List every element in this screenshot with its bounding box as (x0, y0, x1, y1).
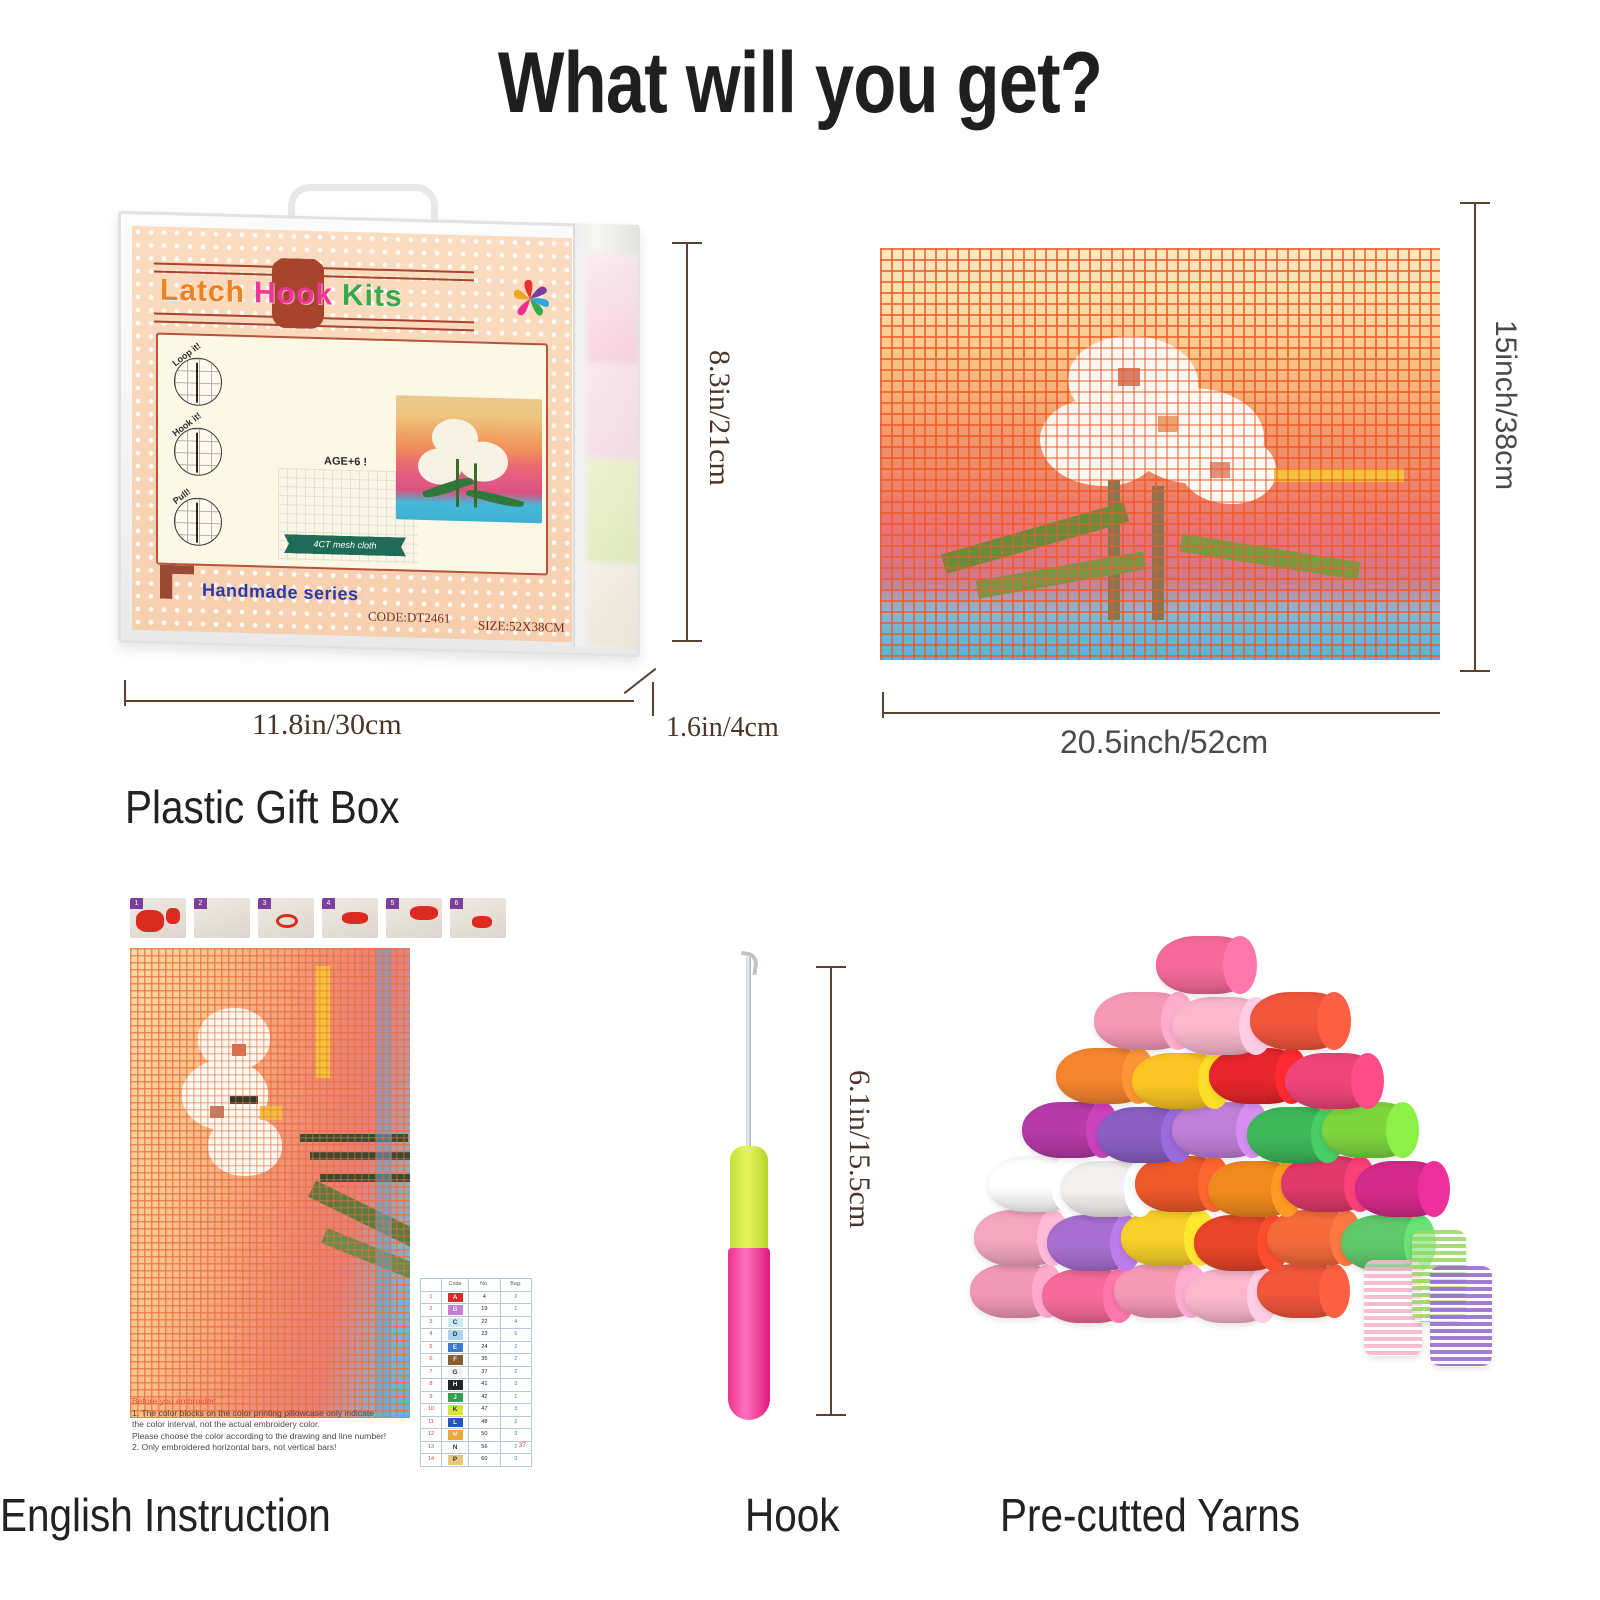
note-line: 1. The color blocks on the color printin… (132, 1408, 418, 1420)
hook-handle-pink (728, 1248, 770, 1420)
panel-hook: 6.1in/15.5cm (690, 950, 910, 1470)
table-row: 2B191 (421, 1304, 532, 1317)
cell-bag: 3 (500, 1454, 531, 1467)
canvas-yellow-streak (1274, 468, 1404, 482)
page-title: What will you get? (144, 34, 1456, 133)
canvas-width-tick-left (882, 692, 884, 718)
thumb-number: 2 (194, 898, 207, 909)
table-row: 1A42 (421, 1291, 532, 1304)
yarn-bundle (1257, 1264, 1349, 1318)
box-height-label: 8.3in/21cm (702, 350, 736, 486)
step-thumbnail: 1 (130, 898, 186, 938)
table-row: 3C224 (421, 1316, 532, 1329)
chart-center-2 (210, 1106, 224, 1118)
cell-code-swatch: P (441, 1454, 468, 1467)
cell-index: 4 (421, 1329, 442, 1342)
brand-title: Latch Hook Kits (160, 267, 490, 324)
cell-number: 22 (469, 1316, 500, 1329)
cell-bag: 2 (500, 1341, 531, 1354)
step-thumbnail: 4 (322, 898, 378, 938)
caption-hook: Hook (745, 1488, 840, 1542)
canvas-height-dimension-line (1474, 202, 1476, 672)
instruction-color-chart (130, 948, 410, 1418)
yarn-bundle (1322, 1102, 1418, 1158)
thumb-number: 3 (258, 898, 271, 909)
cell-number: 24 (469, 1341, 500, 1354)
box-width-label: 11.8in/30cm (252, 708, 402, 742)
cell-code-swatch: C (441, 1316, 468, 1329)
table-row: 5E242 (421, 1341, 532, 1354)
cell-number: 35 (469, 1354, 500, 1367)
canvas-stem-2 (1152, 486, 1164, 620)
canvas-leaf-right (1180, 534, 1361, 580)
canvas-height-label: 15inch/38cm (1488, 320, 1522, 490)
cell-bag: 4 (500, 1316, 531, 1329)
hook-length-tick-top (816, 966, 846, 968)
thumb-number: 1 (130, 898, 143, 909)
chart-yellow-bar (316, 966, 330, 1078)
cell-bag: 2 (500, 1291, 531, 1304)
canvas-stem-1 (1108, 480, 1120, 620)
yarn-roll-bundle (1430, 1266, 1492, 1366)
caption-precutted-yarns: Pre-cutted Yarns (1000, 1488, 1300, 1542)
cell-number: 42 (469, 1391, 500, 1404)
col-number: No. (469, 1279, 500, 1292)
box-height-dimension-line (686, 242, 688, 642)
box-depth-label: 1.6in/4cm (666, 712, 779, 744)
canvas-height-tick-bottom (1460, 670, 1490, 672)
table-row: 10K473 (421, 1404, 532, 1417)
box-height-tick-bottom (672, 640, 702, 642)
step-diagram-hook (174, 427, 222, 476)
hook-length-dimension-line (830, 966, 832, 1416)
cell-index: 10 (421, 1404, 442, 1417)
step-thumbnail: 5 (386, 898, 442, 938)
canvas-orchid-petal-left (1040, 398, 1160, 486)
table-total: 37 (420, 1442, 532, 1449)
cell-bag: 2 (500, 1366, 531, 1379)
instruction-panel: Loop it! Hook it! Pull! AGE+6 ! 4CT mesh… (156, 333, 548, 576)
table-header-row: Code No. Bag. (421, 1279, 532, 1292)
cell-number: 60 (469, 1454, 500, 1467)
step-thumbnail: 2 (194, 898, 250, 938)
table-row: 14P603 (421, 1454, 532, 1467)
table-row: 7G372 (421, 1366, 532, 1379)
cell-bag: 3 (500, 1404, 531, 1417)
cell-number: 4 (469, 1291, 500, 1304)
thumb-number: 5 (386, 898, 399, 909)
table-row: 12M503 (421, 1429, 532, 1442)
cell-index: 7 (421, 1366, 442, 1379)
yarn-bundle-cut-end (1317, 992, 1351, 1050)
yarn-bundle (1156, 936, 1256, 994)
cell-number: 50 (469, 1429, 500, 1442)
box-depth-face (573, 223, 639, 649)
series-label: Handmade series (202, 580, 359, 605)
yarn-bundle-cut-end (1418, 1161, 1450, 1217)
canvas-flower-center-1 (1118, 368, 1140, 386)
canvas-leaf-left-2 (976, 551, 1147, 598)
cell-code-swatch: J (441, 1391, 468, 1404)
note-line: Please choose the color according to the… (132, 1431, 418, 1443)
cell-code-swatch: M (441, 1429, 468, 1442)
table-row: 11L482 (421, 1416, 532, 1429)
col-code: Code (441, 1279, 468, 1292)
cell-index: 8 (421, 1379, 442, 1392)
panel-mesh-canvas: 15inch/38cm 20.5inch/52cm (860, 180, 1560, 820)
side-yarn-green (587, 458, 639, 564)
step-thumbnail: 3 (258, 898, 314, 938)
cell-number: 37 (469, 1366, 500, 1379)
hook-handle-green (730, 1146, 768, 1254)
panel-plastic-gift-box: Latch Hook Kits Loop it! Hook it! Pull! (100, 180, 800, 860)
age-recommendation: AGE+6 ! (324, 455, 367, 468)
cell-index: 1 (421, 1291, 442, 1304)
chart-grid-overlay (130, 948, 410, 1418)
cell-index: 12 (421, 1429, 442, 1442)
cell-code-swatch: L (441, 1416, 468, 1429)
yarn-bundle (1250, 992, 1350, 1050)
cell-bag: 2 (500, 1354, 531, 1367)
cell-number: 48 (469, 1416, 500, 1429)
table-row: 6F352 (421, 1354, 532, 1367)
cell-code-swatch: H (441, 1379, 468, 1392)
cell-bag: 1 (500, 1304, 531, 1317)
yarn-bundle-cut-end (1386, 1102, 1419, 1158)
step-diagram-loop (174, 357, 222, 406)
cell-index: 11 (421, 1416, 442, 1429)
brand-word-hook: Hook (254, 276, 333, 312)
table-row: 4D236 (421, 1329, 532, 1342)
thumb-number: 6 (450, 898, 463, 909)
step-diagram-pull (174, 497, 222, 546)
box-width-dimension-line (126, 700, 634, 702)
side-yarn-pink (587, 253, 639, 364)
panel-precutted-yarns (960, 930, 1520, 1430)
cell-number: 19 (469, 1304, 500, 1317)
thumb-number: 4 (322, 898, 335, 909)
cell-index: 9 (421, 1391, 442, 1404)
chart-dark-bar-4 (230, 1096, 258, 1104)
brand-word-kits: Kits (342, 279, 403, 315)
table-row: 8H413 (421, 1379, 532, 1392)
cell-bag: 6 (500, 1329, 531, 1342)
cell-bag: 2 (500, 1416, 531, 1429)
cell-index: 3 (421, 1316, 442, 1329)
side-yarn-cream (587, 563, 639, 648)
canvas-width-label: 20.5inch/52cm (1060, 724, 1268, 761)
printed-mesh-canvas (880, 248, 1440, 660)
panel-english-instruction: 1 2 3 4 5 6 (120, 890, 660, 1490)
side-yarn-rose (587, 363, 639, 459)
cell-code-swatch: A (441, 1291, 468, 1304)
cell-code-swatch: G (441, 1366, 468, 1379)
gift-box-image: Latch Hook Kits Loop it! Hook it! Pull! (118, 210, 658, 660)
yarn-bundle (1355, 1161, 1449, 1217)
yarn-bundle-cut-end (1319, 1264, 1350, 1318)
cell-index: 14 (421, 1454, 442, 1467)
step-thumbnail-strip: 1 2 3 4 5 6 (130, 898, 506, 938)
cell-code-swatch: B (441, 1304, 468, 1317)
cell-number: 41 (469, 1379, 500, 1392)
cell-code-swatch: D (441, 1329, 468, 1342)
col-bag: Bag. (500, 1279, 531, 1292)
product-code: CODE:DT2461 (368, 608, 450, 626)
cell-bag: 3 (500, 1379, 531, 1392)
canvas-flower-center-2 (1158, 416, 1178, 432)
yarn-bundle (1285, 1053, 1383, 1109)
chart-dark-bar-3 (320, 1174, 410, 1182)
orchid-artwork-photo (396, 395, 542, 523)
hook-needle-shaft (746, 956, 751, 1152)
cell-index: 2 (421, 1304, 442, 1317)
hook-length-label: 6.1in/15.5cm (842, 1070, 876, 1228)
box-front-print: Latch Hook Kits Loop it! Hook it! Pull! (132, 226, 572, 642)
chart-dark-bar-2 (310, 1152, 410, 1160)
step-thumbnail: 6 (450, 898, 506, 938)
caption-plastic-gift-box: Plastic Gift Box (125, 780, 399, 834)
cell-bag: 1 (500, 1391, 531, 1404)
chart-blue-edge (376, 948, 392, 1418)
note-title: Before you embroider: (132, 1396, 418, 1408)
box-width-tick-left (124, 680, 126, 706)
canvas-height-tick-top (1460, 202, 1490, 204)
yarn-color-code-table: Code No. Bag. 1A422B1913C2244D2365E2426F… (420, 1278, 532, 1467)
chart-center-3 (260, 1106, 282, 1120)
box-height-tick-top (672, 242, 702, 244)
cell-code-swatch: K (441, 1404, 468, 1417)
yarn-bundle-cut-end (1223, 936, 1257, 994)
chart-petal-low (208, 1116, 282, 1176)
hook-length-tick-bottom (816, 1414, 846, 1416)
col-index (421, 1279, 442, 1292)
cell-index: 5 (421, 1341, 442, 1354)
chart-center-1 (232, 1044, 246, 1056)
cell-code-swatch: F (441, 1354, 468, 1367)
brand-word-latch: Latch (160, 274, 245, 310)
box-depth-tick (652, 682, 654, 716)
cell-code-swatch: E (441, 1341, 468, 1354)
pinwheel-logo-icon (502, 270, 558, 328)
cell-bag: 3 (500, 1429, 531, 1442)
canvas-flower-center-3 (1210, 462, 1230, 478)
mesh-cloth-banner: 4CT mesh cloth (284, 534, 406, 556)
yarn-bundle-cut-end (1351, 1053, 1384, 1109)
cell-number: 47 (469, 1404, 500, 1417)
before-you-embroider-note: Before you embroider: 1. The color block… (132, 1396, 418, 1454)
caption-english-instruction: English Instruction (0, 1488, 331, 1542)
canvas-width-dimension-line (884, 712, 1440, 714)
note-line: 2. Only embroidered horizontal bars, not… (132, 1442, 418, 1454)
table-row: 9J421 (421, 1391, 532, 1404)
handmade-mark-icon (160, 565, 194, 600)
cell-number: 23 (469, 1329, 500, 1342)
cell-index: 6 (421, 1354, 442, 1367)
note-line: the color interval, not the actual embro… (132, 1419, 418, 1431)
product-size: SIZE:52X38CM (478, 618, 565, 636)
